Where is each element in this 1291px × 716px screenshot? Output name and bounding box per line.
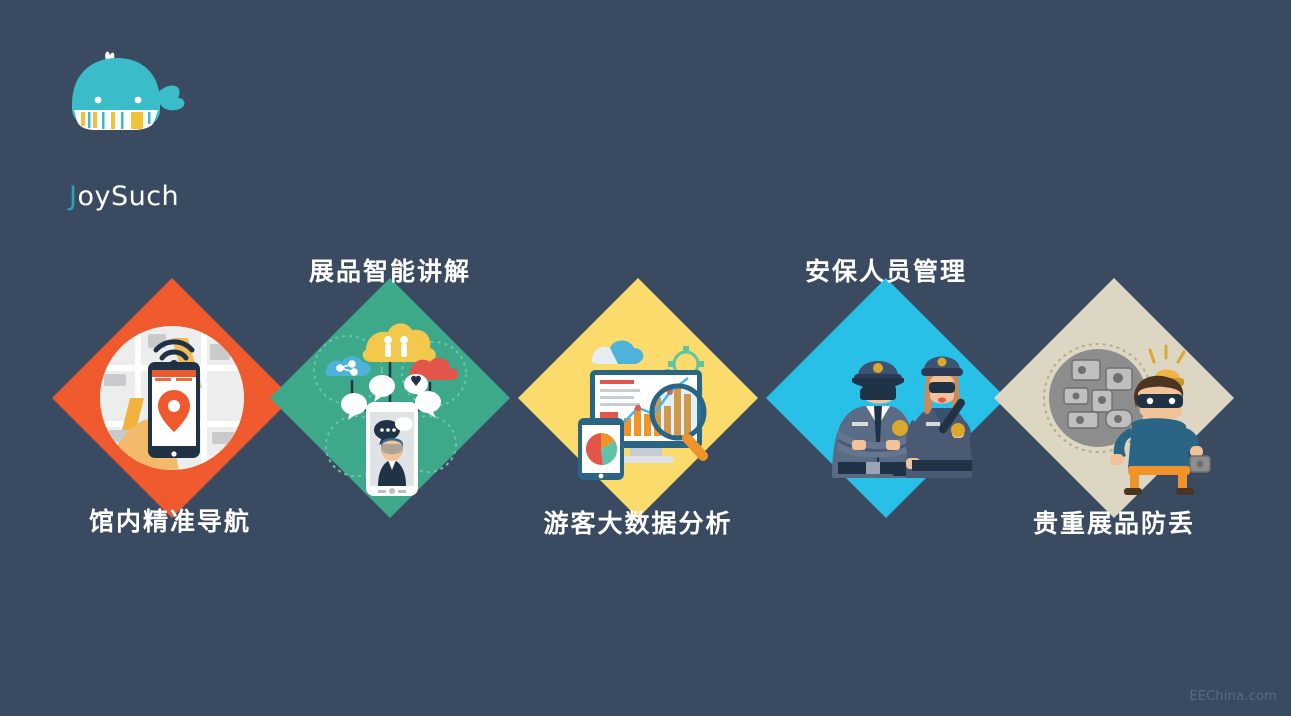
whale-logo-icon [62, 48, 202, 148]
brand-logo-rest: oySuch [77, 181, 179, 212]
diagram-item-security-staff-management[interactable] [766, 278, 1006, 518]
slide-canvas: JoySuch [0, 0, 1291, 716]
watermark: EEChina.com [1189, 689, 1277, 704]
phone-map-wifi-icon [52, 278, 292, 518]
label-valuable-exhibit-anti-loss: 贵重展品防丢 [944, 504, 1284, 540]
security-guards-icon [766, 278, 1006, 518]
diagram-item-visitor-big-data[interactable] [518, 278, 758, 518]
diagram-item-indoor-navigation[interactable] [52, 278, 292, 518]
diagram-item-valuable-exhibit-anti-loss[interactable] [994, 278, 1234, 518]
diagram-item-exhibit-smart-guide[interactable] [270, 278, 510, 518]
thief-alarm-icon [994, 278, 1234, 518]
cloud-chat-phone-icon [270, 278, 510, 518]
brand-logo: JoySuch [62, 48, 242, 173]
analytics-dashboard-icon [518, 278, 758, 518]
label-visitor-big-data: 游客大数据分析 [468, 504, 808, 540]
brand-logo-text: JoySuch [69, 181, 179, 212]
label-exhibit-smart-guide: 展品智能讲解 [220, 252, 560, 288]
